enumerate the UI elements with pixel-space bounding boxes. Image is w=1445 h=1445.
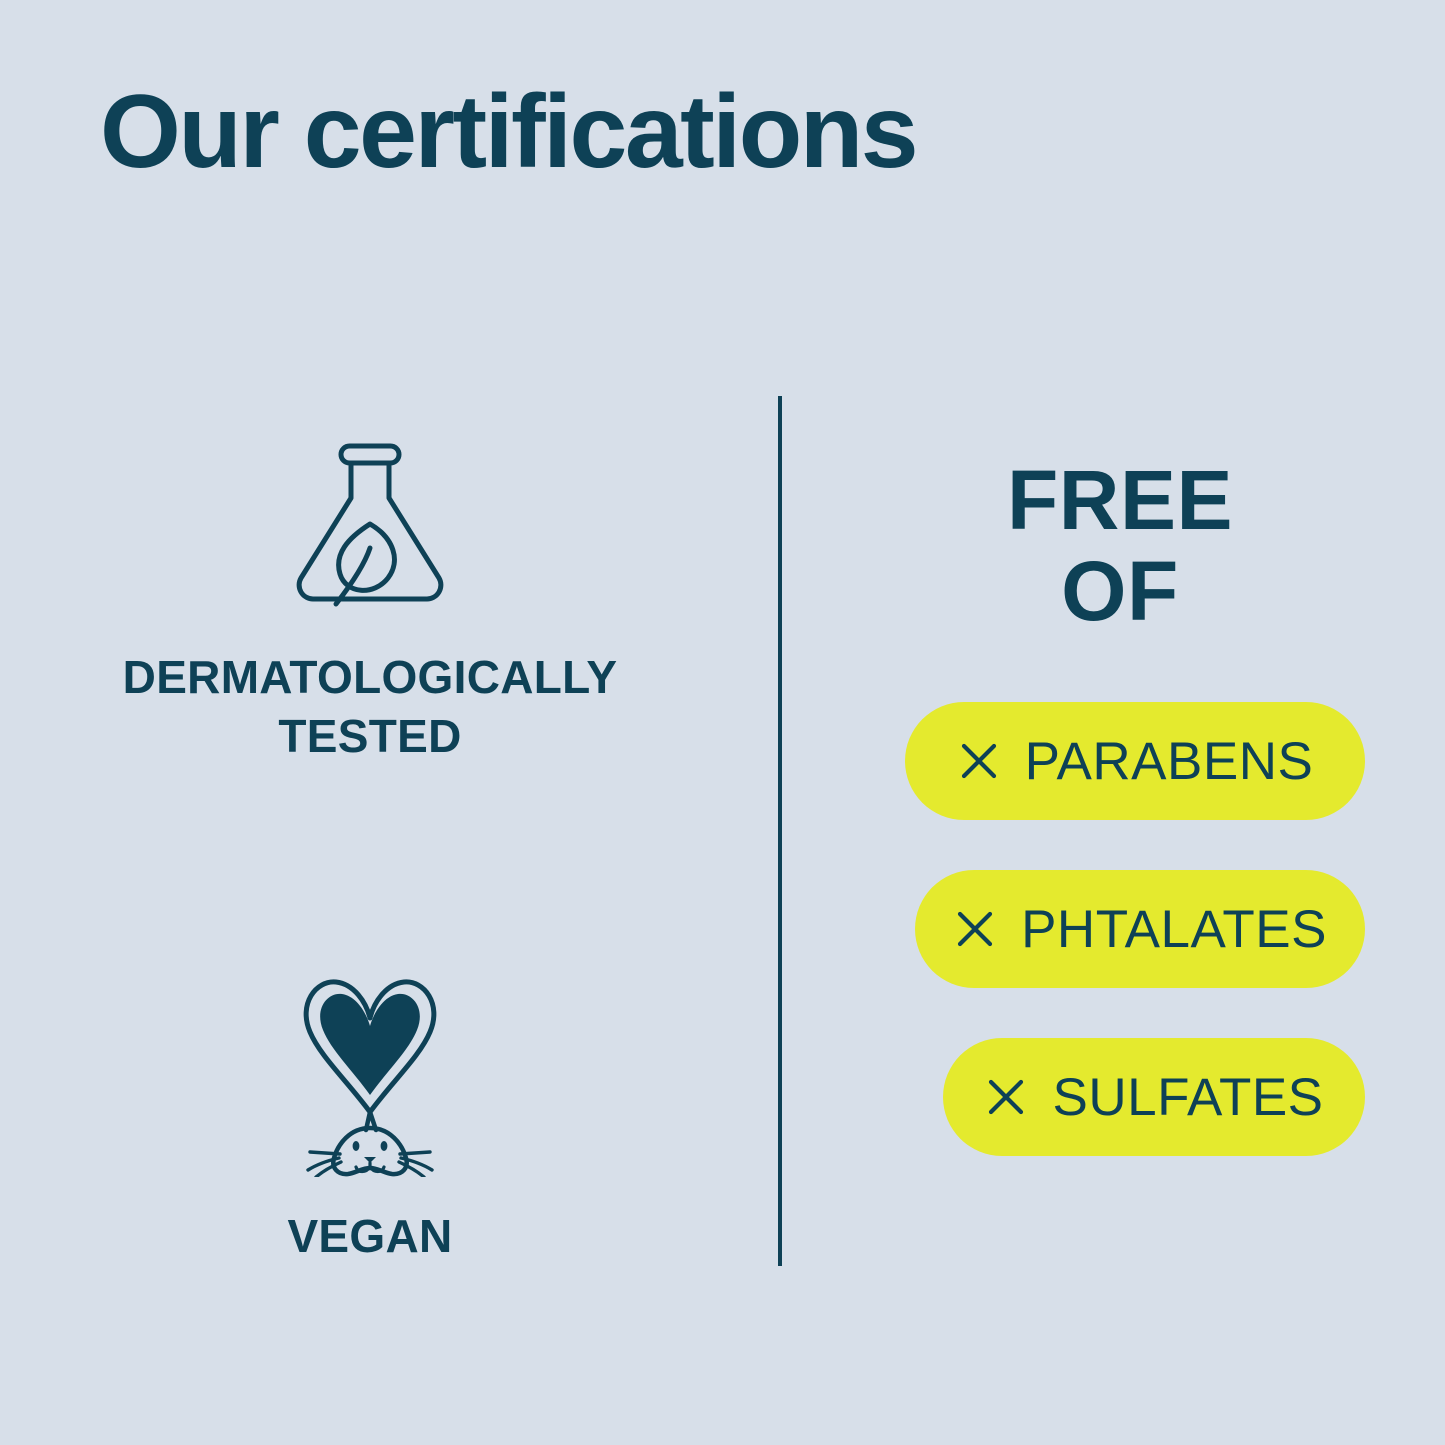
free-of-heading: FREE OF <box>1007 455 1233 636</box>
bunny-heart-ears-icon <box>270 962 470 1177</box>
x-icon <box>953 907 997 951</box>
free-of-pill-list: PARABENS PHTALATES SULFATES <box>875 702 1365 1156</box>
free-of-heading-line-1: FREE <box>1007 455 1233 546</box>
free-of-section: FREE OF PARABENS PHTALATES <box>860 455 1380 1156</box>
certification-label: VEGAN <box>287 1207 452 1266</box>
page-title: Our certifications <box>100 78 916 187</box>
free-of-pill-sulfates[interactable]: SULFATES <box>943 1038 1365 1156</box>
free-of-heading-line-2: OF <box>1007 546 1233 637</box>
free-of-pill-parabens[interactable]: PARABENS <box>905 702 1365 820</box>
certification-label: DERMATOLOGICALLY TESTED <box>50 648 690 766</box>
certification-item-vegan: VEGAN <box>0 962 740 1266</box>
free-of-pill-phtalates[interactable]: PHTALATES <box>915 870 1365 988</box>
x-icon <box>984 1075 1028 1119</box>
free-of-pill-label: PARABENS <box>1025 735 1314 788</box>
certifications-list: DERMATOLOGICALLY TESTED <box>0 400 740 1266</box>
x-icon <box>957 739 1001 783</box>
free-of-pill-label: PHTALATES <box>1021 903 1327 956</box>
flask-leaf-icon <box>270 426 470 626</box>
free-of-pill-label: SULFATES <box>1052 1071 1323 1124</box>
certifications-panel: Our certifications DERMATOLOGICALLY TEST… <box>0 0 1445 1445</box>
vertical-divider <box>778 396 782 1266</box>
certification-item-dermatologically-tested: DERMATOLOGICALLY TESTED <box>0 426 740 766</box>
